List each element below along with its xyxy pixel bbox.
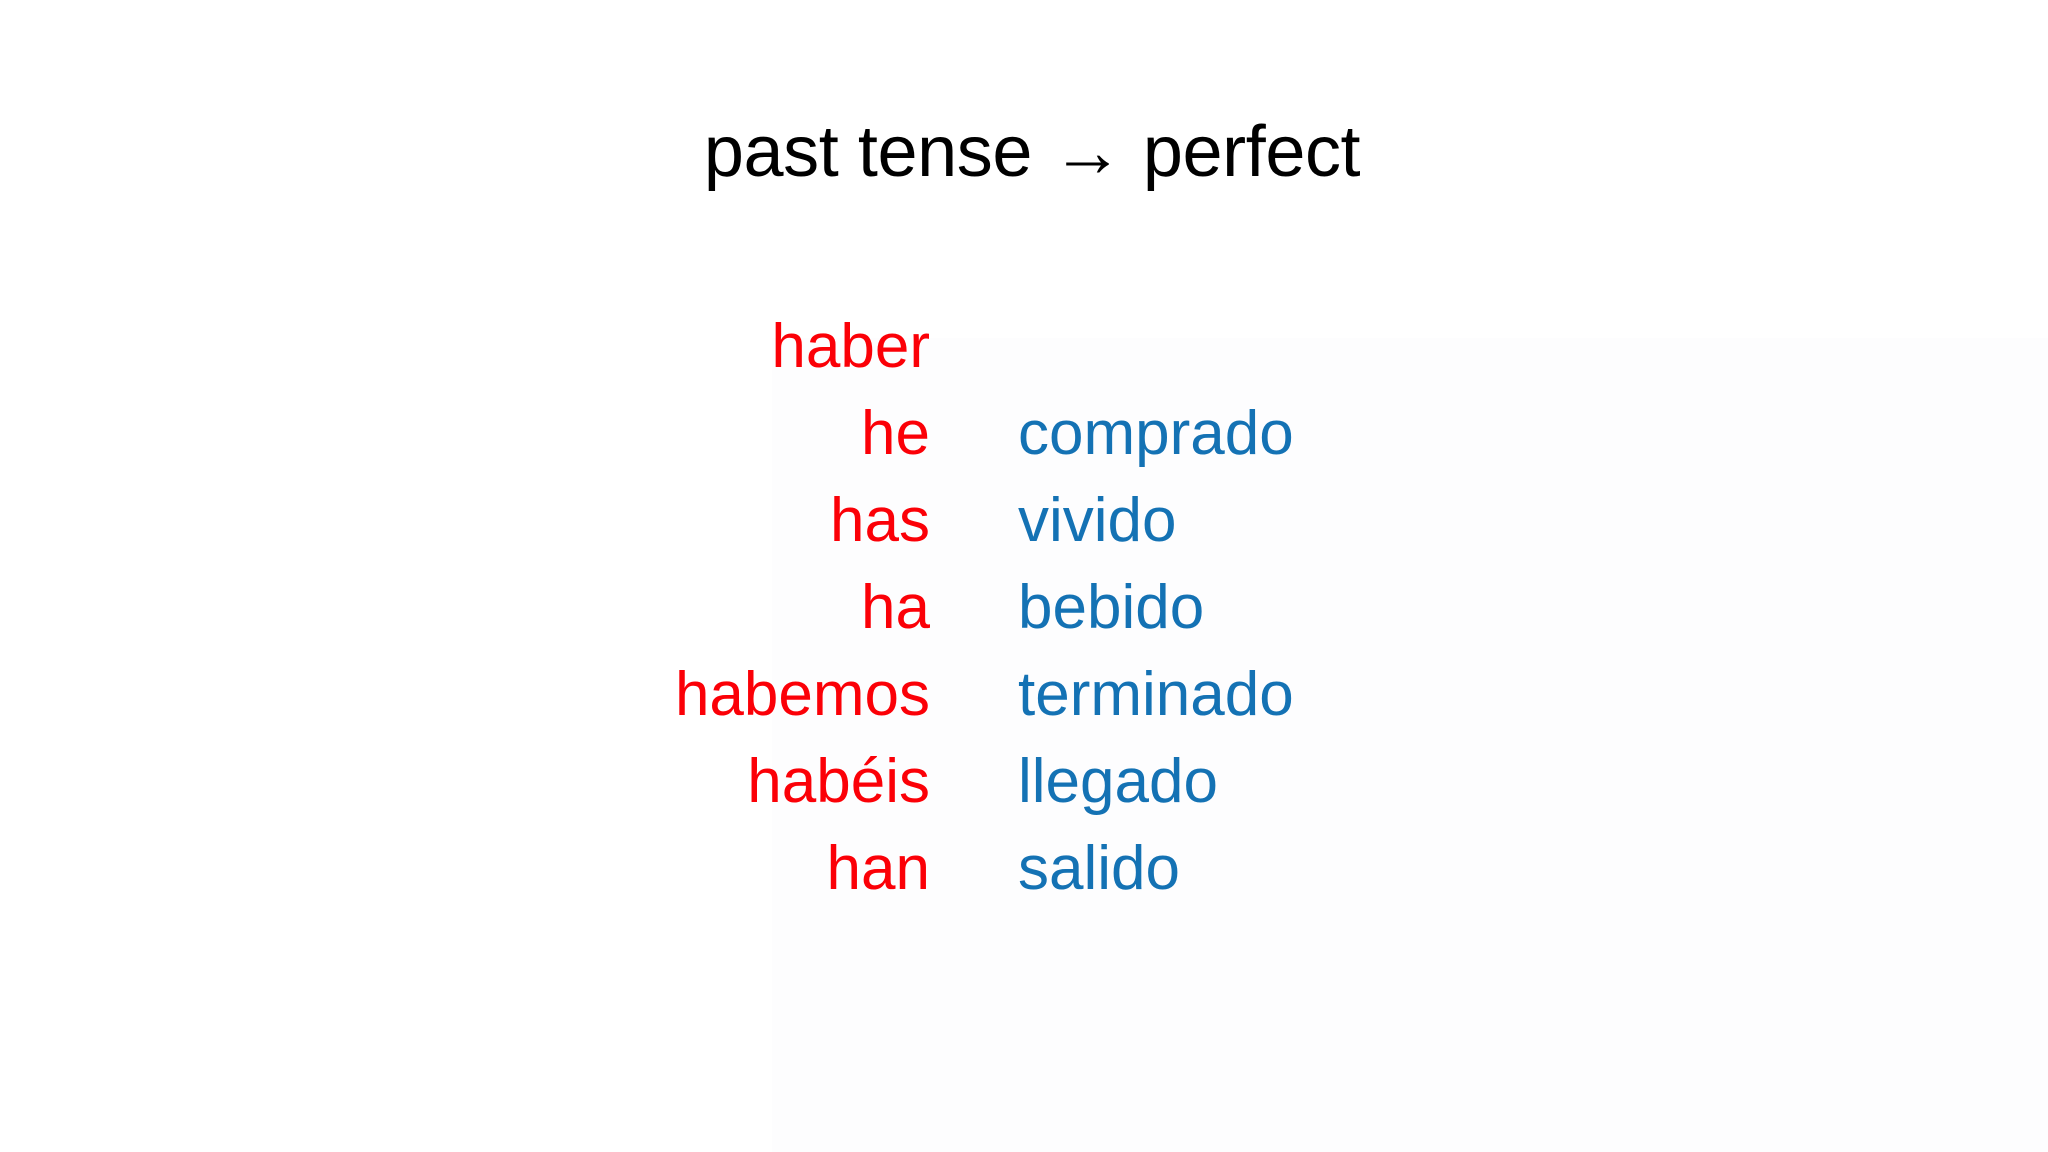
past-participle: bebido bbox=[1018, 564, 1718, 651]
auxiliary-verb: habéis bbox=[0, 738, 930, 825]
table-row: habemos terminado bbox=[0, 651, 2048, 738]
conjugation-table: haber he comprado has vivido ha bebido h… bbox=[0, 303, 2048, 912]
past-participle: salido bbox=[1018, 825, 1718, 912]
auxiliary-verb: habemos bbox=[0, 651, 930, 738]
auxiliary-verb: haber bbox=[0, 303, 930, 390]
auxiliary-verb: has bbox=[0, 477, 930, 564]
table-row: has vivido bbox=[0, 477, 2048, 564]
table-row: haber bbox=[0, 303, 2048, 390]
past-participle: llegado bbox=[1018, 738, 1718, 825]
table-row: ha bebido bbox=[0, 564, 2048, 651]
past-participle: vivido bbox=[1018, 477, 1718, 564]
past-participle: terminado bbox=[1018, 651, 1718, 738]
past-participle: comprado bbox=[1018, 390, 1718, 477]
auxiliary-verb: han bbox=[0, 825, 930, 912]
table-row: habéis llegado bbox=[0, 738, 2048, 825]
auxiliary-verb: he bbox=[0, 390, 930, 477]
table-row: he comprado bbox=[0, 390, 2048, 477]
auxiliary-verb: ha bbox=[0, 564, 930, 651]
table-row: han salido bbox=[0, 825, 2048, 912]
page-title: past tense → perfect bbox=[0, 116, 2048, 188]
slide-canvas: past tense → perfect haber he comprado h… bbox=[0, 0, 2048, 1152]
